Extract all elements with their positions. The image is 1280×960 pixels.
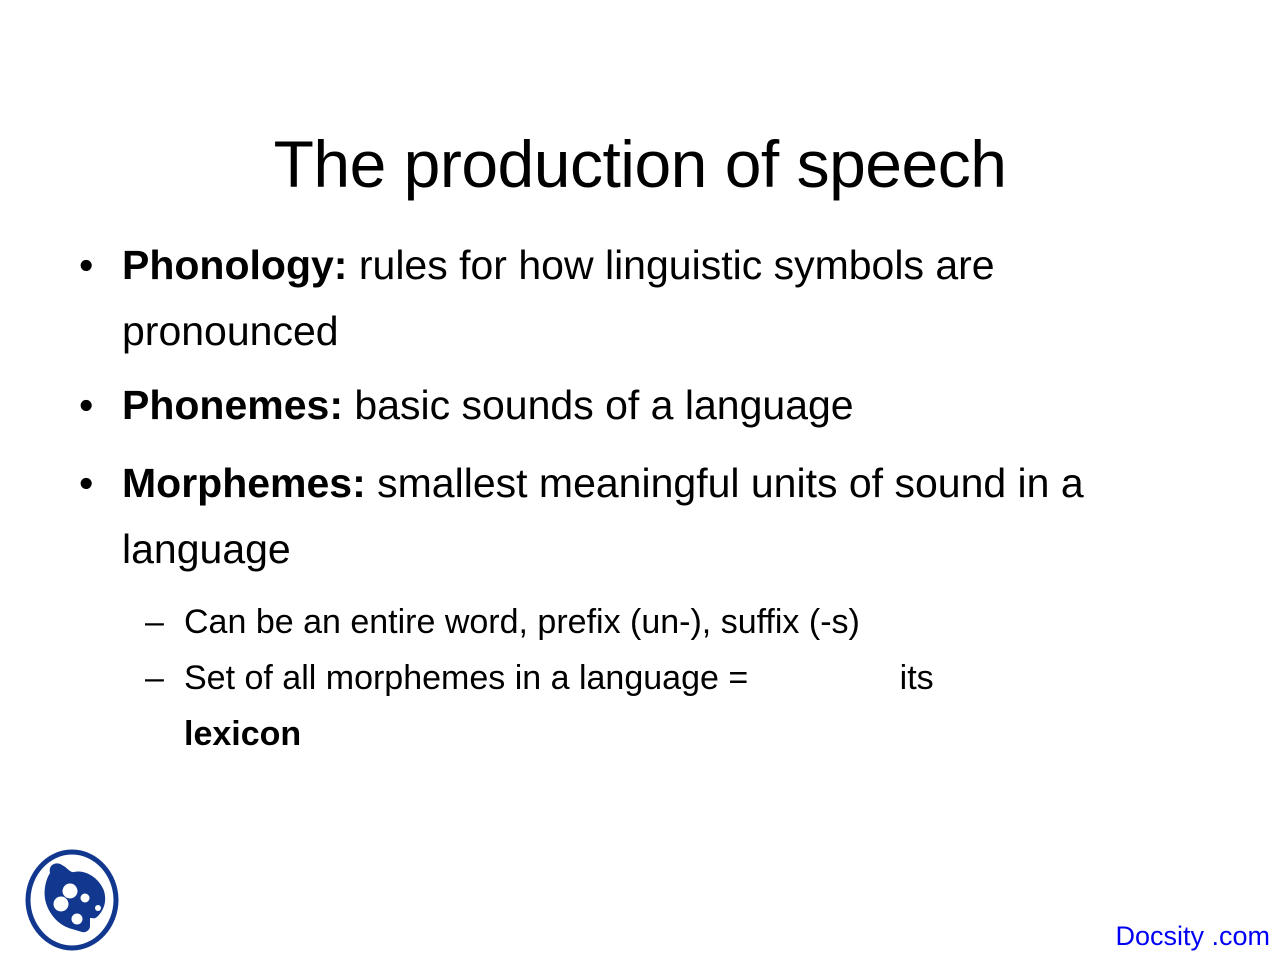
dash-marker-icon: – <box>145 650 164 706</box>
page-title: The production of speech <box>0 126 1280 202</box>
bullet-marker-icon: • <box>79 232 93 298</box>
bullet-marker-icon: • <box>79 450 93 516</box>
list-item-lead: Phonemes: <box>122 382 343 428</box>
sub-list-item: –Set of all morphemes in a language = it… <box>62 650 1222 762</box>
docsity-logo-icon <box>24 848 120 952</box>
sub-list-item-text-after: its <box>900 659 934 697</box>
bullet-marker-icon: • <box>79 372 93 438</box>
list-item: •Phonology: rules for how linguistic sym… <box>62 232 1222 364</box>
bullet-list: •Phonology: rules for how linguistic sym… <box>62 232 1222 762</box>
sub-list-item-text: Can be an entire word, prefix (un-), suf… <box>184 603 860 641</box>
list-item: •Phonemes: basic sounds of a language <box>62 372 1222 438</box>
docsity-watermark: Docsity .com <box>1115 921 1270 952</box>
list-item: •Morphemes: smallest meaningful units of… <box>62 450 1222 582</box>
list-item-text: basic sounds of a language <box>343 382 854 428</box>
sub-list-item-text-bold: lexicon <box>184 715 301 753</box>
slide: The production of speech •Phonology: rul… <box>0 0 1280 960</box>
dash-marker-icon: – <box>145 594 164 650</box>
sub-list-item-text-before: Set of all morphemes in a language = <box>184 659 758 697</box>
list-item-lead: Phonology: <box>122 242 347 288</box>
list-item-lead: Morphemes: <box>122 460 366 506</box>
sub-list-item: –Can be an entire word, prefix (un-), su… <box>62 594 1222 650</box>
